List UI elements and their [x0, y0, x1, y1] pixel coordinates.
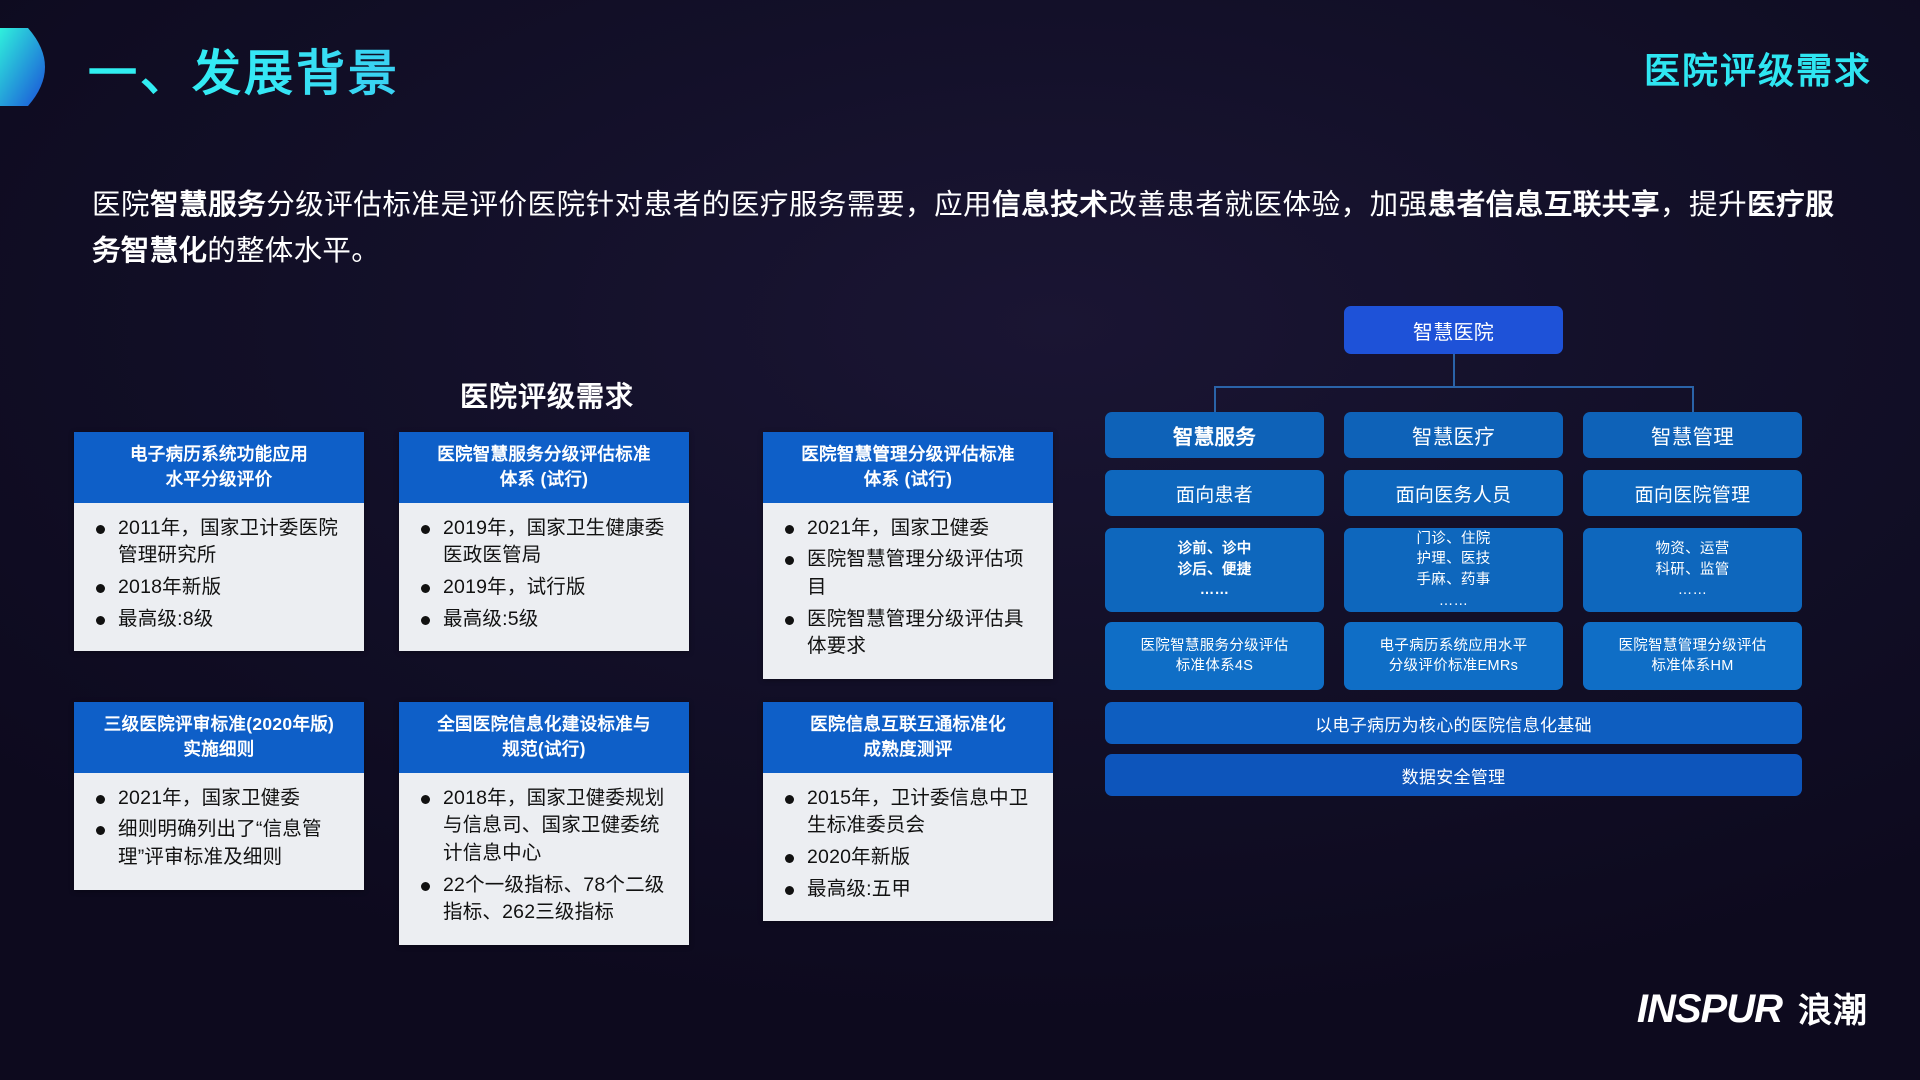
diagram-level4-node-1: 诊前、诊中诊后、便捷……: [1105, 528, 1324, 612]
diagram-level3-node-2-label: 面向医务人员: [1396, 480, 1512, 507]
diagram-level2-node-1: 智慧服务: [1105, 412, 1324, 458]
diagram-level2-node-3: 智慧管理: [1583, 412, 1802, 458]
list-item: 2020年新版: [781, 844, 1039, 872]
lead-segment: 信息技术: [992, 189, 1108, 221]
standard-card: 医院信息互联互通标准化成熟度测评2015年，卫计委信息中卫生标准委员会2020年…: [763, 702, 1053, 921]
diagram-level3-node-3-label: 面向医院管理: [1635, 480, 1751, 507]
connector-line: [1692, 386, 1694, 412]
header-right-label: 医院评级需求: [1644, 42, 1872, 94]
diagram-level4-node-2-label: 门诊、住院护理、医技手麻、药事……: [1417, 529, 1491, 611]
standard-card-list: 2021年，国家卫健委细则明确列出了“信息管理”评审标准及细则: [92, 785, 350, 872]
diagram-foundation-row-2: 数据安全管理: [1105, 754, 1802, 796]
diagram-level5-node-3: 医院智慧管理分级评估标准体系HM: [1583, 622, 1802, 690]
standard-card-title: 医院信息互联互通标准化成熟度测评: [763, 702, 1053, 773]
brand-logo: INSPUR 浪潮: [1637, 983, 1868, 1032]
left-section-title: 医院评级需求: [460, 375, 634, 415]
diagram-foundation-row-1: 以电子病历为核心的医院信息化基础: [1105, 702, 1802, 744]
standard-card-body: 2015年，卫计委信息中卫生标准委员会2020年新版最高级:五甲: [763, 773, 1053, 922]
diagram-level4-node-1-label: 诊前、诊中诊后、便捷……: [1178, 539, 1252, 601]
standard-card-list: 2019年，国家卫生健康委医政医管局2019年，试行版最高级:5级: [417, 515, 675, 634]
diagram-level2-node-2: 智慧医疗: [1344, 412, 1563, 458]
standard-card-title: 全国医院信息化建设标准与规范(试行): [399, 702, 689, 773]
standard-card-body: 2021年，国家卫健委医院智慧管理分级评估项目医院智慧管理分级评估具体要求: [763, 503, 1053, 679]
list-item: 2021年，国家卫健委: [781, 515, 1039, 543]
list-item: 最高级:五甲: [781, 876, 1039, 904]
lead-segment: ，提升: [1660, 189, 1747, 221]
standard-card: 全国医院信息化建设标准与规范(试行)2018年，国家卫健委规划与信息司、国家卫健…: [399, 702, 689, 945]
standard-card-body: 2011年，国家卫计委医院管理研究所2018年新版最高级:8级: [74, 503, 364, 652]
diagram-foundation-row-2-label: 数据安全管理: [1402, 763, 1506, 788]
diagram-foundation-row-1-label: 以电子病历为核心的医院信息化基础: [1315, 711, 1592, 736]
standard-card: 医院智慧服务分级评估标准体系 (试行)2019年，国家卫生健康委医政医管局201…: [399, 432, 689, 651]
standard-card-title: 电子病历系统功能应用水平分级评价: [74, 432, 364, 503]
slide-root: 一、发展背景 医院评级需求 医院智慧服务分级评估标准是评价医院针对患者的医疗服务…: [0, 0, 1920, 1080]
page-title: 一、发展背景: [88, 34, 400, 105]
list-item: 最高级:5级: [417, 606, 675, 634]
diagram-level3-node-1: 面向患者: [1105, 470, 1324, 516]
lead-segment: 智慧服务: [150, 189, 266, 221]
lead-segment: 改善患者就医体验，加强: [1108, 189, 1427, 221]
standard-card-title: 医院智慧管理分级评估标准体系 (试行): [763, 432, 1053, 503]
list-item: 医院智慧管理分级评估项目: [781, 546, 1039, 601]
standard-card-list: 2018年，国家卫健委规划与信息司、国家卫健委统计信息中心22个一级指标、78个…: [417, 785, 675, 927]
lead-paragraph: 医院智慧服务分级评估标准是评价医院针对患者的医疗服务需要，应用信息技术改善患者就…: [92, 182, 1834, 274]
diagram-level5-node-2-label: 电子病历系统应用水平分级评价标准EMRs: [1380, 636, 1528, 677]
list-item: 2018年新版: [92, 574, 350, 602]
list-item: 22个一级指标、78个二级指标、262三级指标: [417, 872, 675, 927]
list-item: 细则明确列出了“信息管理”评审标准及细则: [92, 816, 350, 871]
diagram-level2-node-1-label: 智慧服务: [1173, 420, 1256, 450]
smart-hospital-diagram: 智慧医院智慧服务面向患者诊前、诊中诊后、便捷……医院智慧服务分级评估标准体系4S…: [1105, 370, 1835, 940]
diagram-level2-node-2-label: 智慧医疗: [1412, 420, 1495, 450]
standard-card-body: 2018年，国家卫健委规划与信息司、国家卫健委统计信息中心22个一级指标、78个…: [399, 773, 689, 945]
standard-card-title: 医院智慧服务分级评估标准体系 (试行): [399, 432, 689, 503]
diagram-root-node-label: 智慧医院: [1413, 316, 1494, 345]
diagram-level4-node-3-label: 物资、运营科研、监管……: [1656, 539, 1730, 601]
list-item: 2019年，试行版: [417, 574, 675, 602]
standard-card: 三级医院评审标准(2020年版)实施细则2021年，国家卫健委细则明确列出了“信…: [74, 702, 364, 890]
diagram-level2-node-3-label: 智慧管理: [1651, 420, 1734, 450]
list-item: 2021年，国家卫健委: [92, 785, 350, 813]
diagram-level5-node-1: 医院智慧服务分级评估标准体系4S: [1105, 622, 1324, 690]
lead-segment: 的整体水平。: [207, 235, 380, 267]
diagram-level5-node-3-label: 医院智慧管理分级评估标准体系HM: [1619, 636, 1767, 677]
list-item: 2015年，卫计委信息中卫生标准委员会: [781, 785, 1039, 840]
connector-line: [1215, 386, 1693, 388]
list-item: 最高级:8级: [92, 606, 350, 634]
diagram-root-node: 智慧医院: [1344, 306, 1563, 354]
list-item: 2011年，国家卫计委医院管理研究所: [92, 515, 350, 570]
diagram-level5-node-2: 电子病历系统应用水平分级评价标准EMRs: [1344, 622, 1563, 690]
connector-line: [1214, 386, 1216, 412]
standard-card-title: 三级医院评审标准(2020年版)实施细则: [74, 702, 364, 773]
diagram-level3-node-1-label: 面向患者: [1176, 480, 1253, 507]
standard-card: 电子病历系统功能应用水平分级评价2011年，国家卫计委医院管理研究所2018年新…: [74, 432, 364, 651]
standard-card-list: 2021年，国家卫健委医院智慧管理分级评估项目医院智慧管理分级评估具体要求: [781, 515, 1039, 661]
logo-cn-text: 浪潮: [1798, 983, 1868, 1032]
diagram-level3-node-2: 面向医务人员: [1344, 470, 1563, 516]
diagram-level5-node-1-label: 医院智慧服务分级评估标准体系4S: [1141, 636, 1289, 677]
list-item: 医院智慧管理分级评估具体要求: [781, 606, 1039, 661]
header-arrow-icon: [0, 28, 62, 106]
lead-segment: 医院: [92, 189, 150, 221]
standard-card-body: 2021年，国家卫健委细则明确列出了“信息管理”评审标准及细则: [74, 773, 364, 890]
lead-segment: 分级评估标准是评价医院针对患者的医疗服务需要，应用: [266, 189, 992, 221]
standard-card-list: 2015年，卫计委信息中卫生标准委员会2020年新版最高级:五甲: [781, 785, 1039, 904]
list-item: 2019年，国家卫生健康委医政医管局: [417, 515, 675, 570]
standard-card-list: 2011年，国家卫计委医院管理研究所2018年新版最高级:8级: [92, 515, 350, 634]
standard-card: 医院智慧管理分级评估标准体系 (试行)2021年，国家卫健委医院智慧管理分级评估…: [763, 432, 1053, 679]
list-item: 2018年，国家卫健委规划与信息司、国家卫健委统计信息中心: [417, 785, 675, 868]
logo-mark-text: INSPUR: [1637, 987, 1782, 1032]
lead-segment: 患者信息互联共享: [1428, 189, 1660, 221]
standard-card-body: 2019年，国家卫生健康委医政医管局2019年，试行版最高级:5级: [399, 503, 689, 652]
diagram-level4-node-2: 门诊、住院护理、医技手麻、药事……: [1344, 528, 1563, 612]
connector-line: [1453, 354, 1455, 388]
diagram-level3-node-3: 面向医院管理: [1583, 470, 1802, 516]
diagram-level4-node-3: 物资、运营科研、监管……: [1583, 528, 1802, 612]
